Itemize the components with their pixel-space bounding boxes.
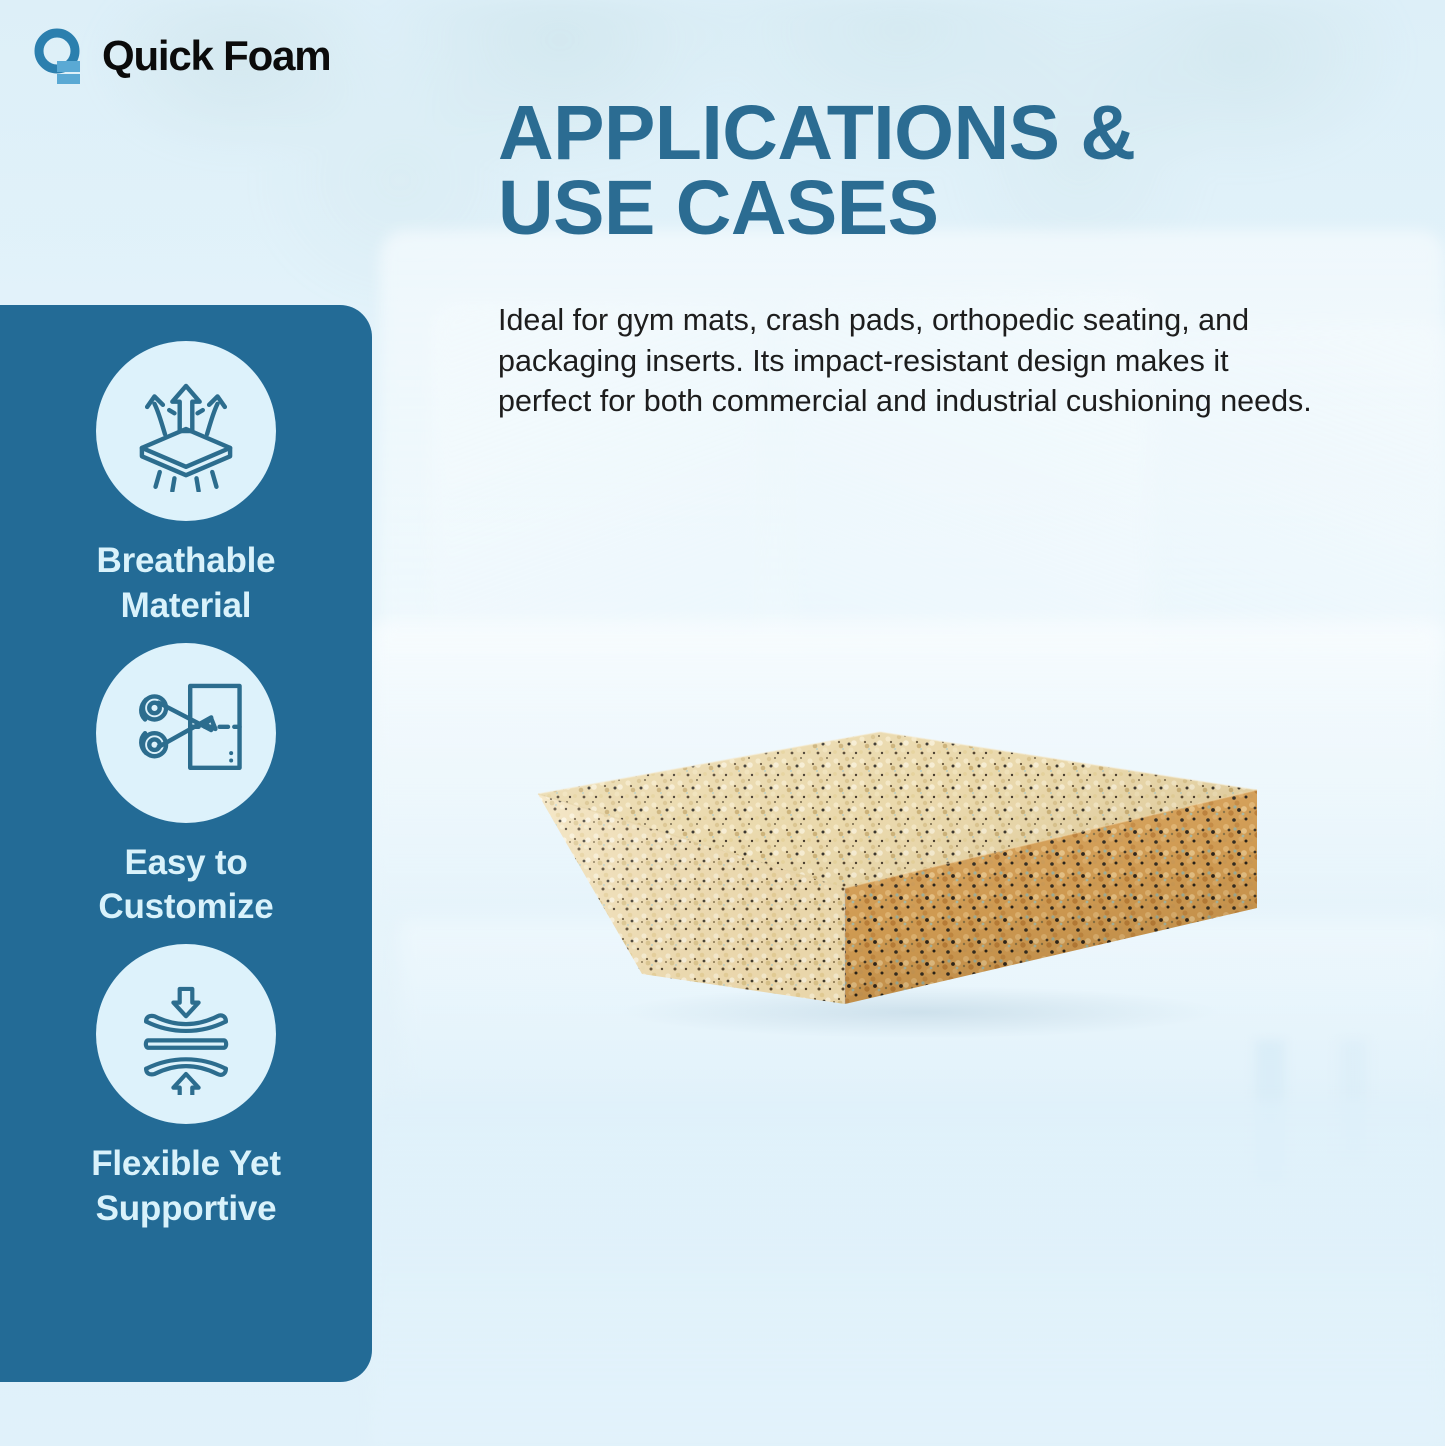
feature-label-line-2: Material — [121, 586, 252, 625]
feature-item-breathable[interactable]: Breathable Material — [0, 341, 372, 629]
page-title: APPLICATIONS & USE CASES — [498, 96, 1368, 247]
brand-name: Quick Foam — [102, 32, 330, 80]
breathable-layers-arrows-icon — [123, 366, 249, 497]
feature-sidebar: Breathable Material — [0, 305, 372, 1382]
quick-foam-q-logo-icon — [32, 26, 88, 86]
product-infographic-page: Quick Foam APPLICATIONS & USE CASES Idea… — [0, 0, 1445, 1446]
feature-icon-circle — [96, 341, 276, 521]
feature-label-line-2: Supportive — [96, 1189, 277, 1228]
feature-label-breathable: Breathable Material — [97, 539, 276, 629]
description-paragraph: Ideal for gym mats, crash pads, orthoped… — [498, 300, 1330, 422]
feature-label-line-2: Customize — [98, 887, 273, 926]
feature-label-line-1: Flexible Yet — [91, 1144, 281, 1183]
page-title-line-2: USE CASES — [498, 171, 1368, 246]
scissors-cut-sheet-icon — [123, 667, 249, 798]
feature-label-line-1: Breathable — [97, 541, 276, 580]
product-image-foam-block — [520, 712, 1265, 1042]
feature-icon-circle — [96, 944, 276, 1124]
brand-logo[interactable]: Quick Foam — [32, 26, 330, 86]
feature-item-supportive[interactable]: Flexible Yet Supportive — [0, 944, 372, 1232]
feature-label-supportive: Flexible Yet Supportive — [91, 1142, 281, 1232]
page-title-line-1: APPLICATIONS & — [498, 96, 1368, 171]
feature-label-customize: Easy to Customize — [98, 841, 273, 931]
feature-icon-circle — [96, 643, 276, 823]
feature-item-customize[interactable]: Easy to Customize — [0, 643, 372, 931]
compression-arrows-layers-icon — [123, 969, 249, 1100]
feature-label-line-1: Easy to — [124, 843, 247, 882]
